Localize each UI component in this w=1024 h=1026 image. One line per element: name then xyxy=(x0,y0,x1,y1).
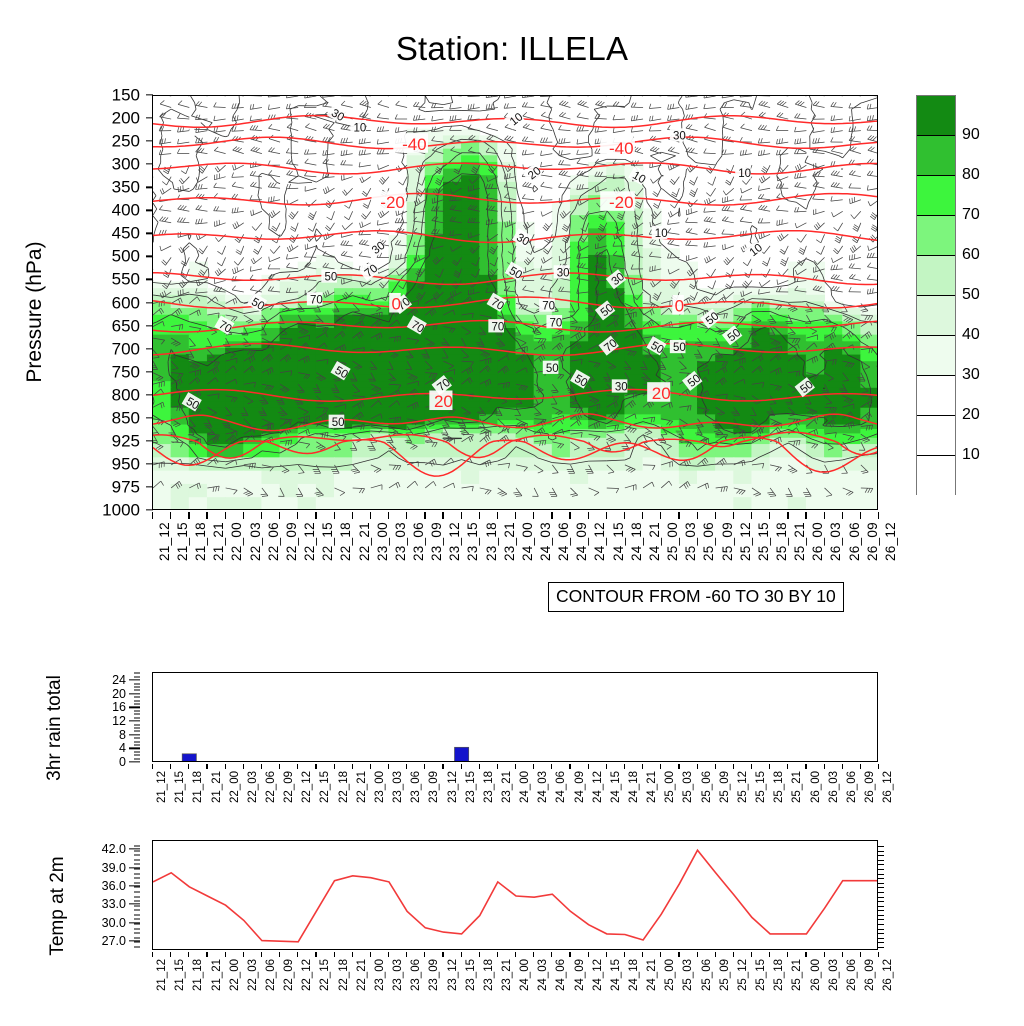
time-tick-label: 26_09 xyxy=(864,959,876,991)
time-tick xyxy=(243,952,244,957)
time-tick xyxy=(424,952,425,957)
time-tick-label: 23_03 xyxy=(392,959,404,991)
time-tick xyxy=(860,952,861,957)
rain-tick-label: 16 xyxy=(112,700,126,714)
time-tick-label: 26_09 xyxy=(865,522,880,561)
rain-minor-tick xyxy=(134,741,140,742)
time-tick xyxy=(334,764,335,769)
pressure-tick-label: 975 xyxy=(112,478,140,495)
time-tick xyxy=(769,952,770,957)
time-tick xyxy=(261,764,262,769)
rain-tick xyxy=(129,707,140,708)
pressure-tick-label: 150 xyxy=(112,87,140,104)
time-tick-label: 24_18 xyxy=(628,771,640,803)
time-tick xyxy=(279,512,280,519)
time-tick-label: 24_21 xyxy=(646,959,658,991)
temp-minor-tick xyxy=(134,901,140,902)
rain-tick xyxy=(129,720,140,721)
time-tick-label: 21_21 xyxy=(211,771,223,803)
colorbar-label: 50 xyxy=(962,286,980,304)
colorbar-cell xyxy=(917,136,955,176)
temp-minor-tick xyxy=(134,946,140,947)
time-tick-label: 25_06 xyxy=(701,959,713,991)
temp-minor-tick xyxy=(134,919,140,920)
time-tick-label: 25_00 xyxy=(664,771,676,803)
time-tick-label: 21_12 xyxy=(157,522,172,561)
pressure-tick-label: 800 xyxy=(112,386,140,403)
time-tick xyxy=(878,952,879,957)
rain-minor-tick xyxy=(134,704,140,705)
time-tick-label: 23_06 xyxy=(411,522,426,561)
time-tick-label: 23_00 xyxy=(375,522,390,561)
time-tick-label: 23_15 xyxy=(465,959,477,991)
rain-minor-tick xyxy=(134,744,140,745)
time-tick xyxy=(588,764,589,769)
time-tick xyxy=(315,512,316,519)
temp-minor-tick xyxy=(134,905,140,906)
time-tick-label: 23_21 xyxy=(501,959,513,991)
time-tick-label: 21_15 xyxy=(174,771,186,803)
colorbar-cell xyxy=(917,416,955,456)
time-tick xyxy=(569,512,570,519)
time-tick-label: 22_12 xyxy=(302,522,317,561)
time-tick-label: 23_18 xyxy=(483,771,495,803)
time-tick-label: 22_03 xyxy=(248,522,263,561)
pressure-tick-label: 450 xyxy=(112,225,140,242)
time-tick xyxy=(606,512,607,519)
time-tick xyxy=(842,952,843,957)
time-tick xyxy=(424,512,425,519)
rain-tick-label: 24 xyxy=(112,673,126,687)
time-tick-label: 25_09 xyxy=(720,522,735,561)
time-tick xyxy=(515,764,516,769)
time-tick xyxy=(206,764,207,769)
time-tick-label: 24_21 xyxy=(646,771,658,803)
time-tick-label: 23_18 xyxy=(484,522,499,561)
time-tick-label: 26_06 xyxy=(846,959,858,991)
time-tick xyxy=(678,952,679,957)
time-tick xyxy=(370,512,371,519)
time-tick xyxy=(297,512,298,519)
time-tick xyxy=(678,512,679,519)
time-tick xyxy=(588,512,589,519)
rain-minor-tick xyxy=(134,727,140,728)
time-tick xyxy=(243,512,244,519)
time-tick xyxy=(352,512,353,519)
rain-minor-tick xyxy=(134,697,140,698)
temp-right-minor-tick xyxy=(878,846,884,847)
time-tick xyxy=(878,764,879,769)
time-tick-label: 22_18 xyxy=(338,959,350,991)
time-tick-label: 22_18 xyxy=(338,522,353,561)
time-tick-label: 23_03 xyxy=(392,771,404,803)
rain-minor-tick xyxy=(134,758,140,759)
time-tick xyxy=(442,764,443,769)
temp-minor-tick xyxy=(134,942,140,943)
temp-right-minor-tick xyxy=(878,906,884,907)
time-tick xyxy=(624,952,625,957)
time-tick xyxy=(370,764,371,769)
time-tick-label: 24_12 xyxy=(592,771,604,803)
temp-time-axis: 21_1221_1521_1821_2122_0022_0322_0622_09… xyxy=(152,952,878,1014)
rain-minor-tick xyxy=(134,700,140,701)
time-tick xyxy=(442,952,443,957)
time-tick-label: 23_09 xyxy=(428,959,440,991)
time-tick-label: 21_15 xyxy=(175,522,190,561)
time-tick-label: 21_18 xyxy=(192,771,204,803)
colorbar-cell xyxy=(917,376,955,416)
time-tick xyxy=(697,512,698,519)
time-tick xyxy=(751,952,752,957)
time-tick xyxy=(461,764,462,769)
rain-tick xyxy=(129,748,140,749)
pressure-tick-label: 925 xyxy=(112,432,140,449)
time-tick-label: 25_18 xyxy=(773,771,785,803)
time-tick xyxy=(170,512,171,519)
time-tick-label: 22_12 xyxy=(301,959,313,991)
temp-minor-tick xyxy=(134,914,140,915)
time-tick-label: 25_03 xyxy=(682,771,694,803)
time-tick-label: 22_09 xyxy=(283,771,295,803)
temp-minor-tick xyxy=(134,855,140,856)
time-tick xyxy=(261,512,262,519)
time-tick xyxy=(642,512,643,519)
time-tick xyxy=(442,512,443,519)
temp-right-minor-tick xyxy=(878,933,884,934)
temp-tick-label: 42.0 xyxy=(102,842,126,856)
pressure-tick-label: 550 xyxy=(112,271,140,288)
time-tick xyxy=(225,512,226,519)
temp-minor-tick xyxy=(134,896,140,897)
time-tick xyxy=(860,512,861,519)
time-tick-label: 25_15 xyxy=(755,959,767,991)
time-tick-label: 24_00 xyxy=(519,959,531,991)
rain-minor-tick xyxy=(134,724,140,725)
colorbar-cell xyxy=(917,296,955,336)
temp-tick-label: 39.0 xyxy=(102,861,126,875)
time-tick xyxy=(624,764,625,769)
temp-right-minor-tick xyxy=(878,860,884,861)
temp-tick-label: 36.0 xyxy=(102,879,126,893)
time-tick-label: 25_21 xyxy=(791,771,803,803)
time-tick xyxy=(842,512,843,519)
time-tick-label: 24_18 xyxy=(629,522,644,561)
time-tick xyxy=(152,952,153,957)
time-tick-label: 26_06 xyxy=(847,522,862,561)
time-tick xyxy=(805,764,806,769)
time-tick-label: 24_06 xyxy=(555,771,567,803)
temp-minor-tick xyxy=(134,873,140,874)
time-tick-label: 22_03 xyxy=(247,771,259,803)
temp-right-minor-tick xyxy=(878,874,884,875)
time-tick-label: 22_00 xyxy=(229,959,241,991)
time-tick xyxy=(697,952,698,957)
cross-section-time-axis: 21_1221_1521_1821_2122_0022_0322_0622_09… xyxy=(152,512,878,590)
temp-right-minor-tick xyxy=(878,929,884,930)
time-tick-label: 24_06 xyxy=(555,959,567,991)
time-tick-label: 21_12 xyxy=(156,959,168,991)
time-tick xyxy=(297,764,298,769)
time-tick-label: 24_09 xyxy=(574,959,586,991)
time-tick-label: 22_21 xyxy=(356,771,368,803)
time-tick xyxy=(315,952,316,957)
time-tick-label: 24_09 xyxy=(574,522,589,561)
time-tick xyxy=(624,512,625,519)
rain-tick-label: 0 xyxy=(119,755,126,769)
temp-right-minor-tick xyxy=(878,924,884,925)
time-tick-label: 23_21 xyxy=(501,771,513,803)
time-tick xyxy=(787,952,788,957)
time-tick-label: 22_03 xyxy=(247,959,259,991)
colorbar-label: 10 xyxy=(962,446,980,464)
pressure-axis-title: Pressure (hPa) xyxy=(23,182,47,442)
time-tick-label: 23_09 xyxy=(428,771,440,803)
time-tick xyxy=(769,512,770,519)
temp-plot xyxy=(153,841,878,950)
time-tick-label: 23_03 xyxy=(393,522,408,561)
time-tick-label: 25_15 xyxy=(755,771,767,803)
rain-tick-label: 12 xyxy=(112,714,126,728)
time-tick-label: 22_06 xyxy=(265,959,277,991)
time-tick xyxy=(733,764,734,769)
time-tick xyxy=(406,952,407,957)
pressure-tick-label: 600 xyxy=(112,294,140,311)
time-tick-label: 23_12 xyxy=(447,959,459,991)
time-tick-label: 25_15 xyxy=(756,522,771,561)
time-tick-label: 26_00 xyxy=(810,522,825,561)
time-tick xyxy=(225,764,226,769)
rain-minor-tick xyxy=(134,755,140,756)
rain-minor-tick xyxy=(134,690,140,691)
time-tick xyxy=(206,952,207,957)
time-tick-label: 25_12 xyxy=(737,959,749,991)
temp-right-minor-tick xyxy=(878,910,884,911)
temp-tick-label: 33.0 xyxy=(102,897,126,911)
time-tick-label: 22_18 xyxy=(338,771,350,803)
time-tick xyxy=(533,952,534,957)
rain-minor-tick xyxy=(134,673,140,674)
time-tick-label: 25_06 xyxy=(701,771,713,803)
temp-right-minor-tick xyxy=(878,851,884,852)
figure-root: Station: ILLELA 150200250300350400450500… xyxy=(0,0,1024,1024)
time-tick-label: 26_00 xyxy=(810,959,822,991)
time-tick-label: 26_12 xyxy=(883,522,898,561)
rain-minor-tick xyxy=(134,731,140,732)
time-tick xyxy=(497,952,498,957)
temp-minor-tick xyxy=(134,882,140,883)
colorbar-label: 70 xyxy=(962,206,980,224)
time-tick xyxy=(406,512,407,519)
time-tick xyxy=(388,764,389,769)
time-tick xyxy=(479,512,480,519)
time-tick xyxy=(152,764,153,769)
rain-tick-label: 4 xyxy=(119,741,126,755)
time-tick xyxy=(824,952,825,957)
pressure-tick-label: 950 xyxy=(112,455,140,472)
time-tick-label: 21_15 xyxy=(174,959,186,991)
time-tick xyxy=(660,512,661,519)
time-tick xyxy=(569,952,570,957)
temp-tick-label: 27.0 xyxy=(102,934,126,948)
time-tick xyxy=(606,764,607,769)
time-tick xyxy=(188,764,189,769)
time-tick xyxy=(297,952,298,957)
time-tick-label: 25_09 xyxy=(719,771,731,803)
time-tick xyxy=(660,952,661,957)
temp-right-minor-tick xyxy=(878,878,884,879)
time-tick-label: 25_00 xyxy=(665,522,680,561)
colorbar-cell xyxy=(917,456,955,496)
time-tick-label: 24_06 xyxy=(556,522,571,561)
rain-bar xyxy=(182,754,196,762)
page-title: Station: ILLELA xyxy=(0,30,1024,68)
temp-axis-right-ticks xyxy=(878,840,894,950)
rain-panel xyxy=(152,672,878,762)
time-tick xyxy=(715,952,716,957)
colorbar-label: 60 xyxy=(962,246,980,264)
cross-section-frame: 1010303020101030301010305070503030507070… xyxy=(152,95,878,510)
time-tick-label: 23_00 xyxy=(374,959,386,991)
time-tick-label: 25_06 xyxy=(701,522,716,561)
time-tick xyxy=(533,764,534,769)
time-tick-label: 22_06 xyxy=(266,522,281,561)
humidity-colorbar xyxy=(916,95,956,495)
time-tick-label: 22_09 xyxy=(283,959,295,991)
rain-minor-tick xyxy=(134,710,140,711)
time-tick xyxy=(751,764,752,769)
temp-minor-tick xyxy=(134,928,140,929)
colorbar-cell xyxy=(917,336,955,376)
time-tick xyxy=(279,952,280,957)
time-tick-label: 26_06 xyxy=(846,771,858,803)
temp-right-minor-tick xyxy=(878,901,884,902)
time-tick-label: 24_15 xyxy=(610,959,622,991)
time-tick-label: 24_15 xyxy=(610,771,622,803)
time-tick-label: 24_09 xyxy=(574,771,586,803)
time-tick xyxy=(606,952,607,957)
pressure-tick-label: 200 xyxy=(112,110,140,127)
temp-minor-tick xyxy=(134,924,140,925)
humidity-colorbar-labels: 908070605040302010 xyxy=(962,95,1022,495)
pressure-tick-label: 850 xyxy=(112,409,140,426)
time-tick xyxy=(515,512,516,519)
time-tick xyxy=(261,952,262,957)
time-tick xyxy=(515,952,516,957)
temp-right-minor-tick xyxy=(878,919,884,920)
rain-tick xyxy=(129,680,140,681)
time-tick xyxy=(824,512,825,519)
time-tick-label: 23_09 xyxy=(429,522,444,561)
pressure-tick-label: 400 xyxy=(112,202,140,219)
time-tick xyxy=(388,512,389,519)
time-tick-label: 23_18 xyxy=(483,959,495,991)
time-tick xyxy=(170,952,171,957)
colorbar-label: 90 xyxy=(962,126,980,144)
time-tick-label: 24_00 xyxy=(519,771,531,803)
time-tick xyxy=(334,952,335,957)
temp-axis-title: Temp at 2m xyxy=(47,786,69,1026)
rain-tick xyxy=(129,693,140,694)
pressure-tick-label: 250 xyxy=(112,133,140,150)
time-tick-label: 25_21 xyxy=(791,959,803,991)
time-tick-label: 25_12 xyxy=(737,771,749,803)
time-tick-label: 25_09 xyxy=(719,959,731,991)
temp-minor-tick xyxy=(134,910,140,911)
temp-minor-tick xyxy=(134,859,140,860)
contour-note: CONTOUR FROM -60 TO 30 BY 10 xyxy=(548,582,844,612)
rain-minor-tick xyxy=(134,676,140,677)
temp-right-minor-tick xyxy=(878,897,884,898)
time-tick-label: 24_18 xyxy=(628,959,640,991)
time-tick xyxy=(334,512,335,519)
time-tick-label: 25_03 xyxy=(682,959,694,991)
temp-right-minor-tick xyxy=(878,947,884,948)
time-tick xyxy=(243,764,244,769)
time-tick-label: 25_21 xyxy=(792,522,807,561)
temp-tick-label: 30.0 xyxy=(102,916,126,930)
time-tick-label: 24_21 xyxy=(647,522,662,561)
time-tick-label: 22_15 xyxy=(319,771,331,803)
time-tick-label: 22_09 xyxy=(284,522,299,561)
time-tick xyxy=(497,764,498,769)
pressure-tick-label: 750 xyxy=(112,363,140,380)
time-tick-label: 21_21 xyxy=(211,522,226,561)
time-tick-label: 22_15 xyxy=(320,522,335,561)
time-tick xyxy=(352,952,353,957)
time-tick xyxy=(642,764,643,769)
time-tick xyxy=(787,512,788,519)
time-tick xyxy=(660,764,661,769)
time-tick xyxy=(860,764,861,769)
temp-right-minor-tick xyxy=(878,915,884,916)
pressure-tick-label: 650 xyxy=(112,317,140,334)
time-tick-label: 23_21 xyxy=(502,522,517,561)
rain-minor-tick xyxy=(134,714,140,715)
time-tick-label: 26_12 xyxy=(882,959,894,991)
time-tick-label: 22_06 xyxy=(265,771,277,803)
time-tick-label: 22_21 xyxy=(357,522,372,561)
temp-minor-tick xyxy=(134,887,140,888)
time-tick-label: 21_18 xyxy=(193,522,208,561)
time-tick xyxy=(315,764,316,769)
time-tick-label: 24_03 xyxy=(538,522,553,561)
time-tick xyxy=(497,512,498,519)
time-tick-label: 24_03 xyxy=(537,959,549,991)
temp-frame xyxy=(152,840,878,950)
pressure-tick-label: 1000 xyxy=(102,502,140,519)
time-tick xyxy=(588,952,589,957)
time-tick xyxy=(733,512,734,519)
time-tick-label: 23_06 xyxy=(410,959,422,991)
temp-minor-tick xyxy=(134,933,140,934)
temp-right-minor-tick xyxy=(878,938,884,939)
temp-minor-tick xyxy=(134,864,140,865)
time-tick-label: 24_03 xyxy=(537,771,549,803)
time-tick xyxy=(787,764,788,769)
time-tick-label: 21_21 xyxy=(211,959,223,991)
time-tick xyxy=(388,952,389,957)
time-tick xyxy=(551,764,552,769)
time-tick xyxy=(715,764,716,769)
rain-plot xyxy=(153,673,878,762)
time-tick xyxy=(188,512,189,519)
rain-bar xyxy=(455,747,469,762)
colorbar-label: 40 xyxy=(962,326,980,344)
temp-minor-tick xyxy=(134,891,140,892)
rain-time-axis: 21_1221_1521_1821_2122_0022_0322_0622_09… xyxy=(152,764,878,826)
time-tick-label: 26_00 xyxy=(810,771,822,803)
colorbar-cell xyxy=(917,256,955,296)
